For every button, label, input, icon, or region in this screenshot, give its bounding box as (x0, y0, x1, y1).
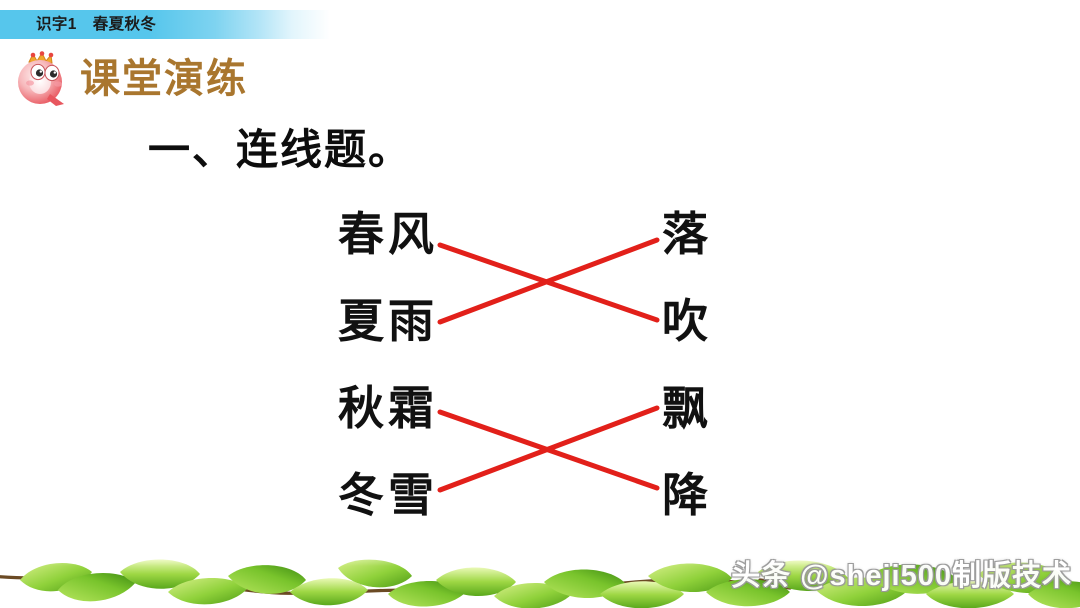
section-heading: 课堂演练 (14, 50, 248, 108)
match-word-left[interactable]: 秋霜 (338, 383, 438, 435)
match-word-left[interactable]: 冬雪 (338, 470, 438, 522)
breadcrumb: 识字1 春夏秋冬 (36, 12, 156, 37)
match-word-left[interactable]: 春风 (338, 209, 438, 261)
watermark-text: 头条 @sheji500制版技术 (731, 552, 1072, 594)
q-mascot-icon (14, 50, 70, 108)
match-word-right[interactable]: 飘 (662, 383, 712, 435)
match-word-right[interactable]: 落 (662, 209, 712, 261)
connector-line (440, 245, 657, 320)
connector-line (440, 408, 657, 490)
connector-line (440, 412, 657, 488)
section-title: 课堂演练 (80, 54, 248, 104)
connector-line (440, 240, 657, 322)
match-word-right[interactable]: 吹 (662, 296, 712, 348)
slide-canvas: 识字1 春夏秋冬 (0, 0, 1080, 608)
match-word-right[interactable]: 降 (662, 470, 712, 522)
match-word-left[interactable]: 夏雨 (338, 296, 438, 348)
page-title: 一、连线题。 (148, 122, 412, 178)
